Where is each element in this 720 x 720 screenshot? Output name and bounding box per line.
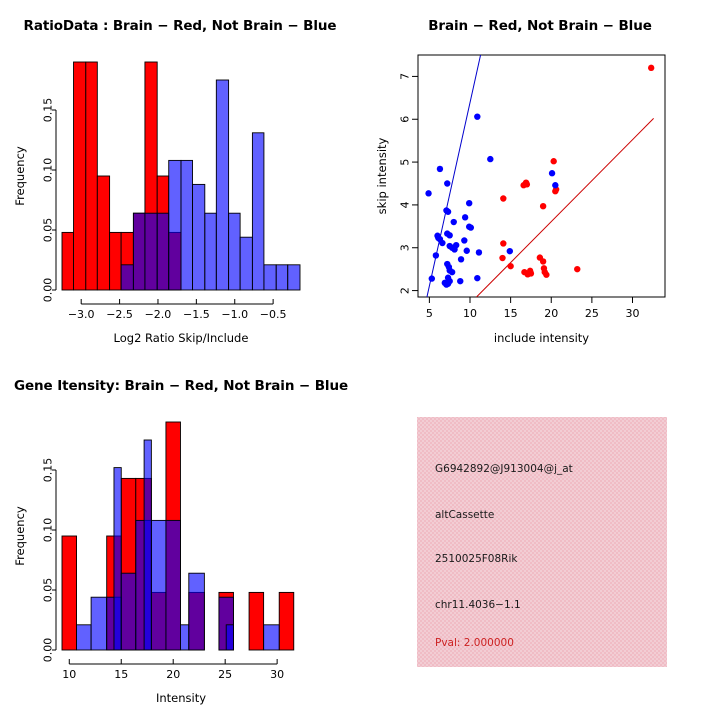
scatter-point (444, 180, 450, 186)
histogram-bar (121, 265, 133, 290)
histogram-bars (62, 62, 300, 290)
scatter-point (433, 252, 439, 258)
x-axis-label: include intensity (494, 331, 589, 345)
scatter-point (468, 224, 474, 230)
histogram-bar (181, 160, 193, 290)
event-type-text: altCassette (435, 509, 494, 521)
x-tick-label: 10 (62, 668, 76, 681)
y-axis-label: skip intensity (375, 137, 389, 214)
histogram-bar (169, 160, 181, 290)
x-axis-label: Intensity (156, 691, 206, 705)
histogram-bar (86, 62, 98, 290)
histogram-bar (240, 237, 252, 290)
annotation-box: G6942892@J913004@j_at altCassette 251002… (417, 417, 667, 667)
scatter-point (445, 209, 451, 215)
scatter-point (487, 156, 493, 162)
intensity-scatter-panel: Brain − Red, Not Brain − Blue 2345675101… (360, 0, 720, 360)
y-tick-label: 0.00 (42, 638, 55, 663)
histogram-bars (62, 422, 294, 650)
scatter-point (458, 256, 464, 262)
annotation-panel: G6942892@J913004@j_at altCassette 251002… (360, 360, 720, 720)
x-tick-label: 20 (166, 668, 180, 681)
y-tick-label: 0.15 (42, 458, 55, 483)
scatter-point (446, 232, 452, 238)
scatter-point (507, 263, 513, 269)
ratio-histogram-panel: RatioData : Brain − Red, Not Brain − Blu… (0, 0, 360, 360)
probeset-id-text: G6942892@J913004@j_at (435, 463, 573, 475)
y-tick-label: 4 (399, 201, 412, 208)
blue-reference-line (427, 55, 481, 297)
pvalue-text: Pval: 2.000000 (435, 637, 514, 649)
x-tick-label: −3.0 (68, 308, 95, 321)
y-tick-label: 3 (399, 244, 412, 251)
scatter-point (500, 240, 506, 246)
scatter-point (524, 181, 530, 187)
histogram-bar (144, 440, 151, 650)
y-tick-label: 0.10 (42, 518, 55, 543)
y-tick-label: 6 (399, 116, 412, 123)
histogram-bar (151, 520, 166, 650)
histogram-bar (133, 213, 145, 290)
y-tick-label: 5 (399, 159, 412, 166)
y-tick-label: 0.05 (42, 218, 55, 243)
x-tick-label: 30 (626, 307, 640, 320)
scatter-point (442, 280, 448, 286)
histogram-bar (216, 80, 228, 290)
histogram-bar (276, 265, 288, 290)
histogram-bar (249, 592, 264, 650)
gene-intensity-histogram-panel: Gene Itensity: Brain − Red, Not Brain − … (0, 360, 360, 720)
histogram-bar (157, 213, 169, 290)
x-tick-label: 25 (218, 668, 232, 681)
histogram-bar (77, 625, 92, 650)
x-axis-label: Log2 Ratio Skip/Include (114, 331, 249, 345)
scatter-point (462, 214, 468, 220)
scatter-point (474, 275, 480, 281)
histogram-bar (264, 265, 276, 290)
scatter-point (429, 275, 435, 281)
scatter-point (461, 237, 467, 243)
y-tick-label: 2 (399, 287, 412, 294)
gene-intensity-histogram-plot: 0.000.050.100.151015202530IntensityFrequ… (0, 360, 360, 720)
x-tick-label: 30 (270, 668, 284, 681)
histogram-bar (205, 213, 217, 290)
y-tick-label: 0.00 (42, 278, 55, 303)
x-tick-label: 5 (426, 307, 433, 320)
scatter-point (449, 269, 455, 275)
histogram-bar (288, 265, 300, 290)
histogram-bar (279, 592, 294, 650)
histogram-bar (110, 232, 122, 290)
x-tick-label: −0.5 (260, 308, 287, 321)
scatter-point (543, 272, 549, 278)
y-tick-label: 7 (399, 73, 412, 80)
histogram-bar (97, 176, 109, 290)
scatter-point (425, 190, 431, 196)
ratio-histogram-plot: 0.000.050.100.15−3.0−2.5−2.0−1.5−1.0−0.5… (0, 0, 360, 360)
histogram-bar (62, 232, 74, 290)
y-axis-label: Frequency (13, 506, 27, 566)
scatter-point (550, 158, 556, 164)
x-tick-label: 25 (585, 307, 599, 320)
scatter-point (453, 242, 459, 248)
scatter-point (439, 240, 445, 246)
scatter-point (437, 166, 443, 172)
y-axis-label: Frequency (13, 146, 27, 206)
scatter-point (451, 219, 457, 225)
histogram-bar (226, 625, 233, 650)
scatter-point (464, 248, 470, 254)
scatter-point (648, 65, 654, 71)
y-tick-label: 0.05 (42, 578, 55, 603)
histogram-bar (166, 520, 181, 650)
scatter-point (499, 255, 505, 261)
histogram-bar (189, 573, 205, 650)
scatter-point (528, 270, 534, 276)
histogram-bar (193, 184, 205, 290)
histogram-bar (264, 625, 280, 650)
histogram-bar (114, 468, 121, 650)
scatter-point (500, 195, 506, 201)
red-reference-line (477, 118, 654, 297)
y-tick-label: 0.10 (42, 158, 55, 183)
histogram-bar (62, 536, 77, 650)
scatter-point (540, 258, 546, 264)
scatter-point (457, 278, 463, 284)
x-tick-label: −1.5 (183, 308, 210, 321)
x-tick-label: −1.0 (221, 308, 248, 321)
gene-symbol-text: 2510025F08Rik (435, 553, 517, 565)
scatter-point (476, 249, 482, 255)
intensity-scatter-plot: 23456751015202530include intensityskip i… (360, 0, 720, 360)
x-tick-label: 15 (114, 668, 128, 681)
scatter-point (466, 200, 472, 206)
histogram-bar (74, 62, 86, 290)
histogram-bar (180, 625, 188, 650)
x-tick-label: −2.5 (106, 308, 133, 321)
scatter-point (474, 113, 480, 119)
histogram-bar (91, 597, 107, 650)
x-tick-label: −2.0 (145, 308, 172, 321)
histogram-bar (121, 573, 136, 650)
scatter-point (552, 182, 558, 188)
scatter-point (574, 266, 580, 272)
y-tick-label: 0.15 (42, 98, 55, 123)
scatter-point (552, 188, 558, 194)
scatter-point (549, 170, 555, 176)
x-tick-label: 15 (504, 307, 518, 320)
histogram-bar (252, 133, 264, 290)
x-tick-label: 10 (463, 307, 477, 320)
histogram-bar (229, 213, 241, 290)
scatter-point (540, 203, 546, 209)
histogram-bar (145, 213, 157, 290)
x-tick-label: 20 (544, 307, 558, 320)
scatter-point (507, 248, 513, 254)
locus-text: chr11.4036−1.1 (435, 599, 521, 611)
